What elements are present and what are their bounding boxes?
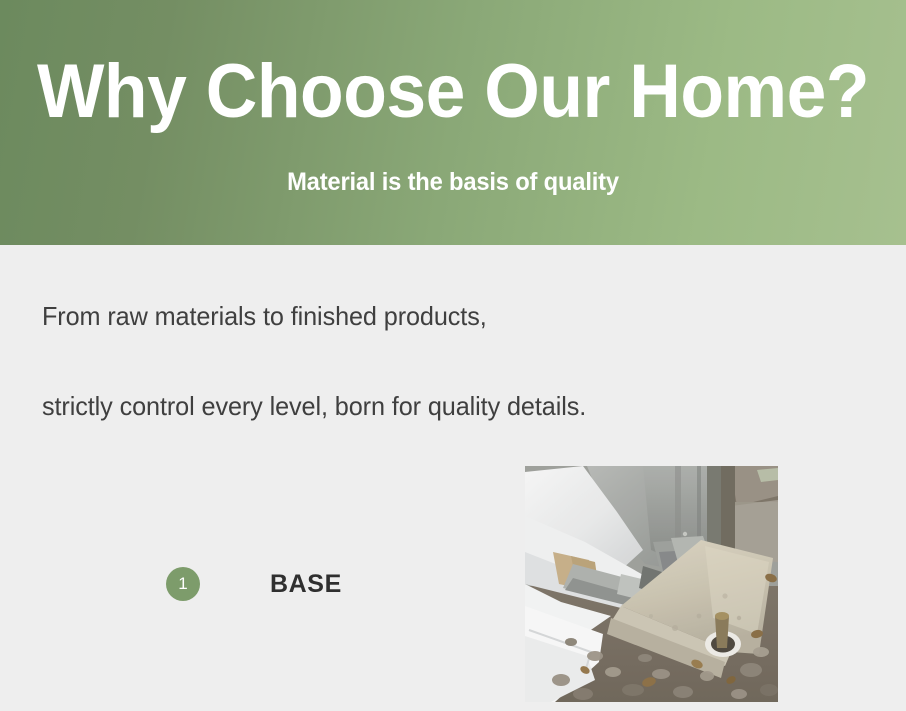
slide-root: Why Choose Our Home? Material is the bas… [0,0,906,711]
page-subtitle: Material is the basis of quality [23,168,884,197]
body-line-2: strictly control every level, born for q… [42,390,779,423]
header-banner: Why Choose Our Home? Material is the bas… [0,0,906,245]
step-label: BASE [270,570,342,599]
step-item-base: 1 BASE [166,567,342,601]
base-bracket-photo [525,466,778,702]
body-line-1: From raw materials to finished products, [42,300,779,333]
photo-canvas [525,466,778,702]
body-copy: From raw materials to finished products,… [42,300,802,422]
step-number-badge: 1 [166,567,200,601]
page-title: Why Choose Our Home? [27,52,879,132]
